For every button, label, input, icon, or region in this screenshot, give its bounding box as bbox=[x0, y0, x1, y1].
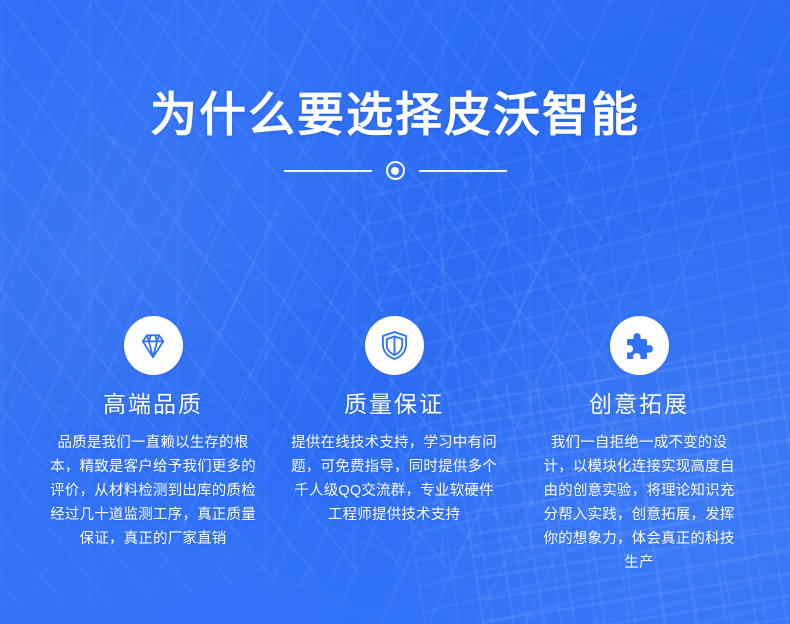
feature-column-innovation: 创意拓展 我们一自拒绝一成不变的设计，以模块化连接实现高度自由的创意实验，将理论… bbox=[517, 316, 762, 575]
diamond-icon-badge bbox=[124, 316, 183, 375]
feature-column-quality: 高端品质 品质是我们一直赖以生存的根本，精致是客户给予我们更多的评价，从材料检测… bbox=[31, 316, 276, 575]
puzzle-piece-icon-badge bbox=[610, 316, 669, 375]
section-divider bbox=[0, 161, 790, 180]
promo-banner: 为什么要选择皮沃智能 bbox=[0, 0, 790, 624]
divider-line-left bbox=[284, 170, 372, 172]
feature-column-guarantee: 质量保证 提供在线技术支持，学习中有问题，可免费指导，同时提供多个千人级QQ交流… bbox=[272, 316, 517, 575]
puzzle-piece-icon bbox=[625, 331, 654, 360]
shield-icon bbox=[380, 330, 409, 361]
banner-content: 为什么要选择皮沃智能 bbox=[0, 0, 790, 624]
feature-text: 提供在线技术支持，学习中有问题，可免费指导，同时提供多个千人级QQ交流群，专业软… bbox=[289, 431, 499, 527]
diamond-icon bbox=[138, 332, 168, 360]
divider-dot bbox=[391, 167, 399, 175]
shield-icon-badge bbox=[365, 316, 424, 375]
feature-title: 质量保证 bbox=[344, 391, 444, 419]
divider-line-right bbox=[419, 170, 507, 172]
feature-text: 品质是我们一直赖以生存的根本，精致是客户给予我们更多的评价，从材料检测到出库的质… bbox=[48, 431, 258, 551]
feature-columns: 高端品质 品质是我们一直赖以生存的根本，精致是客户给予我们更多的评价，从材料检测… bbox=[0, 316, 790, 575]
feature-title: 创意拓展 bbox=[589, 391, 689, 419]
page-title: 为什么要选择皮沃智能 bbox=[0, 88, 790, 142]
divider-ring-icon bbox=[386, 161, 405, 180]
feature-text: 我们一自拒绝一成不变的设计，以模块化连接实现高度自由的创意实验，将理论知识充分帮… bbox=[539, 431, 739, 575]
feature-title: 高端品质 bbox=[103, 391, 203, 419]
